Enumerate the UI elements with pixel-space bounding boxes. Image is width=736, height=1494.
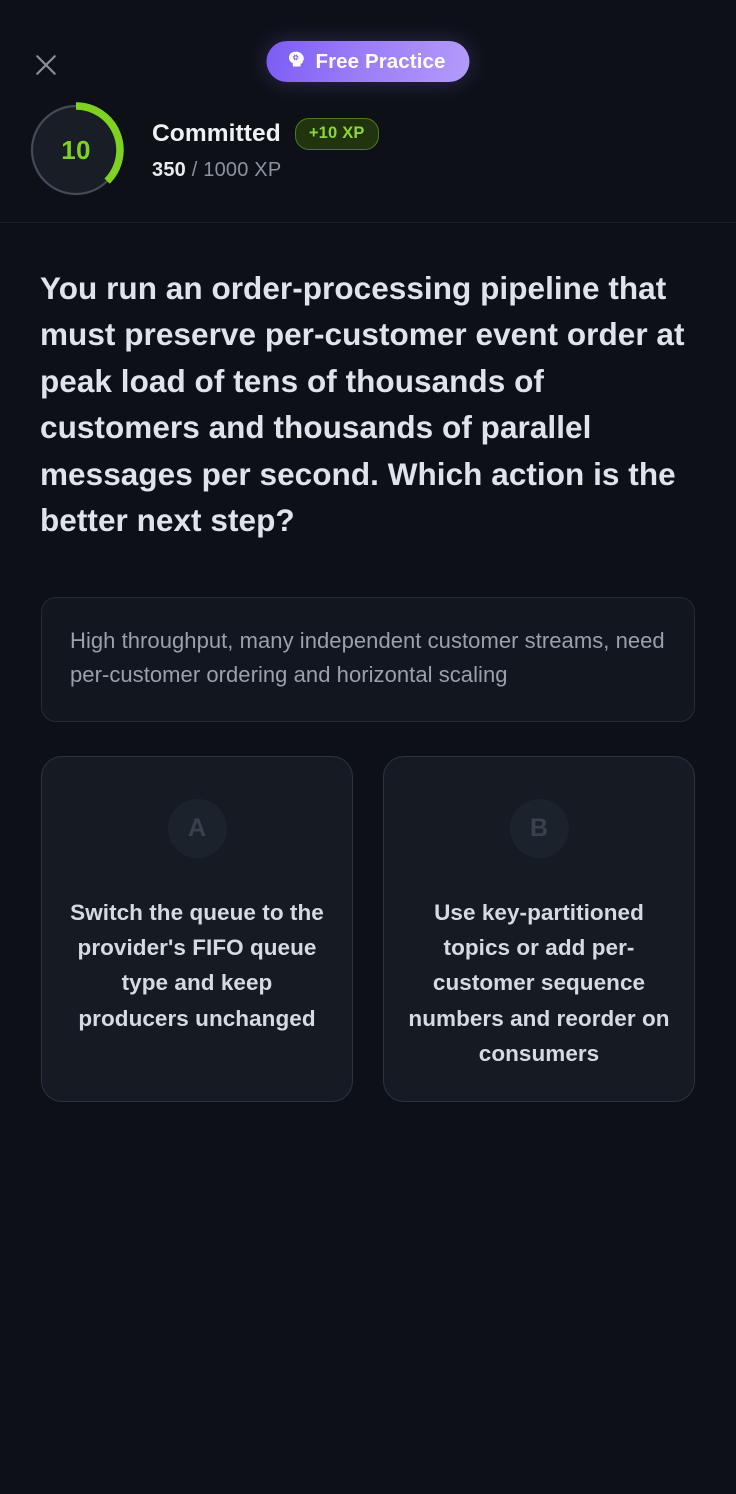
xp-progress-text: 350 / 1000 XP [152,159,379,182]
xp-current-value: 350 [152,159,186,181]
practice-question-screen: Free Practice 10 Committed +10 XP 350 / … [0,0,736,1494]
app-header: Free Practice 10 Committed +10 XP 350 / … [0,0,736,223]
question-text: You run an order-processing pipeline tha… [40,265,696,544]
answer-letter-a: A [168,799,227,858]
close-icon [31,50,61,80]
level-details: Committed +10 XP 350 / 1000 XP [152,118,379,182]
level-number: 10 [28,102,124,198]
level-title: Committed [152,120,281,148]
question-content: You run an order-processing pipeline tha… [0,223,736,1102]
close-button[interactable] [27,46,65,84]
answer-letter-b: B [510,799,569,858]
brain-head-icon [285,49,306,75]
xp-gain-badge: +10 XP [295,118,379,150]
answer-text-b: Use key-partitioned topics or add per-cu… [406,895,672,1070]
level-title-row: Committed +10 XP [152,118,379,150]
xp-total-value: / 1000 XP [192,159,282,181]
context-text: High throughput, many independent custom… [70,624,666,694]
free-practice-badge[interactable]: Free Practice [266,41,469,82]
context-box: High throughput, many independent custom… [41,597,695,723]
level-summary: 10 Committed +10 XP 350 / 1000 XP [0,102,379,198]
free-practice-label: Free Practice [315,50,445,74]
level-progress-ring: 10 [28,102,124,198]
answer-card-a[interactable]: A Switch the queue to the provider's FIF… [41,756,353,1101]
answer-card-b[interactable]: B Use key-partitioned topics or add per-… [383,756,695,1101]
answer-options: A Switch the queue to the provider's FIF… [41,756,695,1101]
answer-text-a: Switch the queue to the provider's FIFO … [64,895,330,1035]
